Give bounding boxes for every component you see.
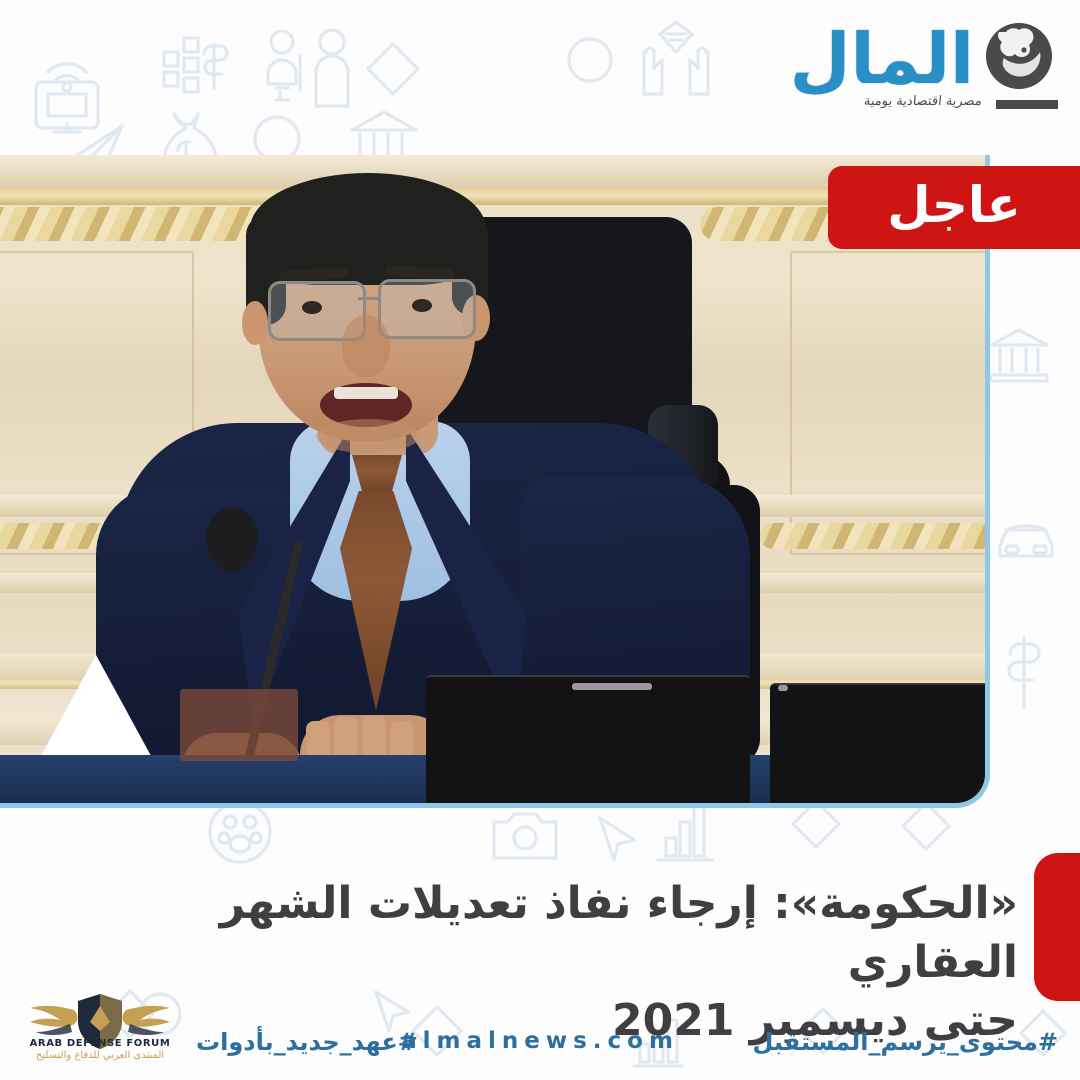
tagline-bar <box>996 100 1058 109</box>
watermark-name-en: ARAB DEFENSE FORUM <box>30 1038 171 1049</box>
brand-tagline: مصرية اقتصادية يومية <box>863 94 982 109</box>
brand-logo[interactable]: المال مصرية اقتصادية يومية <box>790 18 1058 109</box>
hashtag-left[interactable]: #عهد_جديد_بأدوات <box>196 1028 418 1056</box>
circle-outline-icon <box>566 36 614 84</box>
breaking-news-badge: عاجل <box>828 166 1080 249</box>
monitor-wifi-icon <box>30 48 104 134</box>
breaking-news-label: عاجل <box>887 180 1021 236</box>
diamond-hands-icon <box>640 14 712 108</box>
camera-icon <box>490 806 560 862</box>
red-accent-pill <box>1034 853 1080 1001</box>
bull-bear-globe-emblem-icon <box>980 18 1058 96</box>
website-url[interactable]: almalnews.com <box>401 1028 679 1054</box>
car-icon <box>992 516 1060 564</box>
diamond-outline-icon <box>364 40 422 98</box>
headline-line-1: «الحكومة»: إرجاء نفاذ تعديلات الشهر العق… <box>220 878 1018 987</box>
forum-watermark: ARAB DEFENSE FORUM المنتدى العربي للدفاع… <box>10 990 190 1076</box>
dollar-grid-icon <box>158 30 230 108</box>
hashtag-right[interactable]: #محتوى_يرسم_المستقبل <box>752 1028 1058 1056</box>
bank-icon <box>988 326 1050 384</box>
people-finance-icon <box>258 28 358 114</box>
brand-logo-wordmark: المال <box>790 27 974 91</box>
bar-chart-icon <box>654 800 716 864</box>
news-card: المال مصرية اقتصادية يومية عاجل <box>0 0 1080 1080</box>
cursor-icon <box>590 812 644 870</box>
news-photo <box>0 155 990 808</box>
watermark-name-ar: المنتدى العربي للدفاع والتسليح <box>36 1050 164 1061</box>
dollar-icon <box>1002 632 1046 714</box>
